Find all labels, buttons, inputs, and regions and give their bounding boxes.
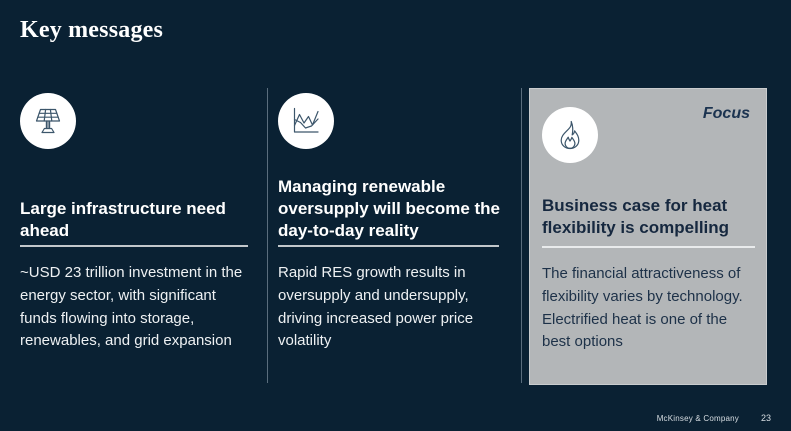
solar-panel-icon <box>20 93 76 149</box>
column-2-rule <box>278 245 499 247</box>
message-column-1: Large infrastructure need ahead ~USD 23 … <box>20 88 268 385</box>
footer-page-number: 23 <box>761 413 771 423</box>
slide-footer: McKinsey & Company 23 <box>657 413 771 423</box>
message-column-3: Business case for heat flexibility is co… <box>530 89 768 386</box>
column-3-body: The financial attractiveness of flexibil… <box>542 263 756 354</box>
focus-panel: Focus Business case for heat flexibility… <box>529 88 767 385</box>
footer-brand: McKinsey & Company <box>657 414 739 423</box>
line-chart-icon <box>278 93 334 149</box>
column-2-heading: Managing renewable oversupply will becom… <box>278 176 506 241</box>
column-2-body: Rapid RES growth results in oversupply a… <box>278 262 506 353</box>
flame-icon <box>542 107 598 163</box>
column-1-body: ~USD 23 trillion investment in the energ… <box>20 262 252 353</box>
column-3-rule <box>542 246 755 248</box>
column-1-rule <box>20 245 248 247</box>
slide: Key messages Large infrastructure nee <box>0 0 791 431</box>
message-column-2: Managing renewable oversupply will becom… <box>278 88 526 385</box>
column-1-heading: Large infrastructure need ahead <box>20 198 258 242</box>
column-3-heading: Business case for heat flexibility is co… <box>542 195 756 239</box>
page-title: Key messages <box>20 17 163 44</box>
